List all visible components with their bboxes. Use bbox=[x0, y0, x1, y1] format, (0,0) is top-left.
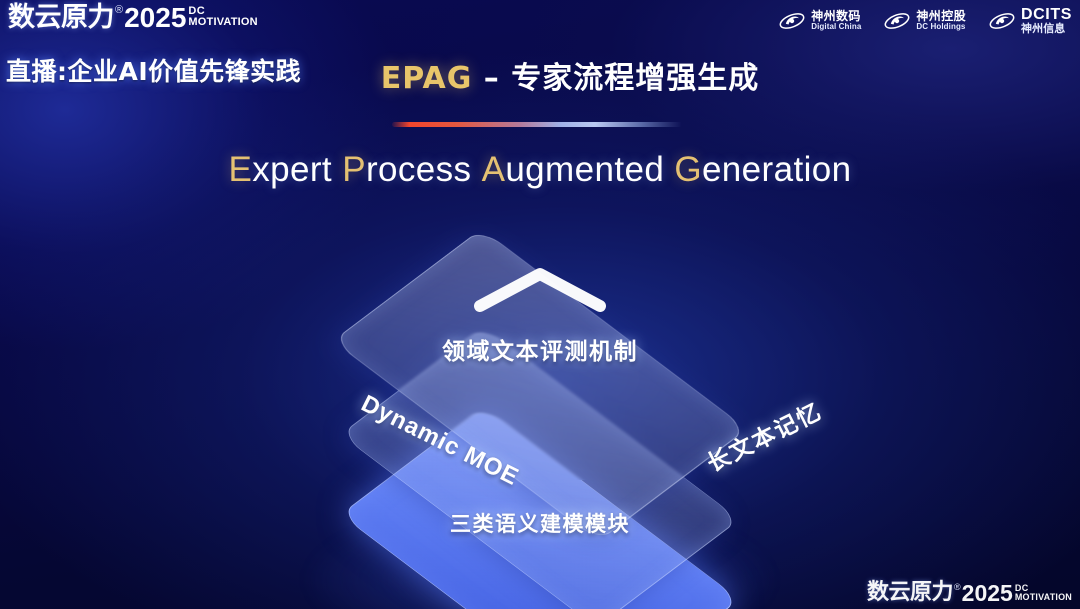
expansion-cap-e: E bbox=[229, 150, 253, 189]
page-title: EPAG – 专家流程增强生成 bbox=[0, 53, 1080, 97]
swirl-logo-icon bbox=[778, 10, 806, 32]
footer-brand-registered-mark: ® bbox=[954, 582, 961, 592]
partner-logo-dc-holdings: 神州控股 DC Holdings bbox=[883, 10, 966, 32]
footer-brand-name-cn: 数云原力 bbox=[867, 582, 953, 604]
title-chinese: 专家流程增强生成 bbox=[511, 61, 759, 96]
partner-logo-group: 神州数码 Digital China 神州控股 DC Holdings bbox=[778, 6, 1072, 35]
partner-name-cn: 神州控股 bbox=[916, 10, 966, 23]
expansion-cap-g: G bbox=[674, 150, 702, 189]
stack-label-top: 领域文本评测机制 bbox=[0, 332, 1080, 366]
partner-name-en: DC Holdings bbox=[916, 23, 966, 32]
brand-motivation-block: DC MOTIVATION bbox=[188, 6, 257, 28]
chevron-up-icon bbox=[470, 262, 610, 316]
title-acronym: EPAG bbox=[381, 61, 473, 96]
expansion-cap-p: P bbox=[342, 150, 366, 189]
footer-watermark: 数云原力 ® 2025 DC MOTIVATION bbox=[867, 582, 1072, 605]
expansion-rest-generation: eneration bbox=[702, 150, 852, 189]
expansion-rest-expert: xpert bbox=[252, 150, 332, 189]
partner-logo-dcits: DCITS 神州信息 bbox=[988, 6, 1072, 35]
expansion-space-2 bbox=[471, 150, 481, 189]
layer-stack-diagram: 领域文本评测机制 Dynamic MOE 长文本记忆 三类语义建模模块 bbox=[0, 200, 1080, 600]
title-separator: – bbox=[472, 61, 511, 96]
expansion-space-3 bbox=[664, 150, 674, 189]
partner-name-cn: DCITS bbox=[1021, 6, 1072, 23]
expansion-cap-a: A bbox=[482, 150, 506, 189]
partner-name-en: 神州信息 bbox=[1021, 23, 1072, 35]
acronym-expansion: Expert Process Augmented Generation bbox=[0, 150, 1080, 190]
slide-canvas: 数云原力 ® 2025 DC MOTIVATION 直播:企业AI价值先锋实践 … bbox=[0, 0, 1080, 609]
footer-brand-motivation-block: DC MOTIVATION bbox=[1015, 584, 1072, 602]
brand-motivation-label: MOTIVATION bbox=[188, 17, 257, 28]
partner-logo-digital-china: 神州数码 Digital China bbox=[778, 10, 861, 32]
brand-year: 2025 bbox=[124, 4, 186, 32]
footer-brand-year: 2025 bbox=[962, 582, 1013, 605]
brand-logo: 数云原力 ® 2025 DC MOTIVATION bbox=[8, 4, 258, 32]
brand-registered-mark: ® bbox=[115, 4, 123, 16]
stack-label-bottom: 三类语义建模模块 bbox=[0, 508, 1080, 538]
swirl-logo-icon bbox=[988, 10, 1016, 32]
footer-brand-motivation-label: MOTIVATION bbox=[1015, 593, 1072, 602]
brand-name-cn: 数云原力 bbox=[8, 4, 114, 31]
partner-label-block: 神州控股 DC Holdings bbox=[916, 10, 966, 32]
expansion-rest-process: rocess bbox=[366, 150, 472, 189]
expansion-rest-augmented: ugmented bbox=[505, 150, 664, 189]
title-divider bbox=[392, 122, 682, 127]
swirl-logo-icon bbox=[883, 10, 911, 32]
partner-label-block: DCITS 神州信息 bbox=[1021, 6, 1072, 35]
partner-name-cn: 神州数码 bbox=[811, 10, 861, 23]
partner-label-block: 神州数码 Digital China bbox=[811, 10, 861, 32]
partner-name-en: Digital China bbox=[811, 23, 861, 32]
expansion-space-1 bbox=[332, 150, 342, 189]
